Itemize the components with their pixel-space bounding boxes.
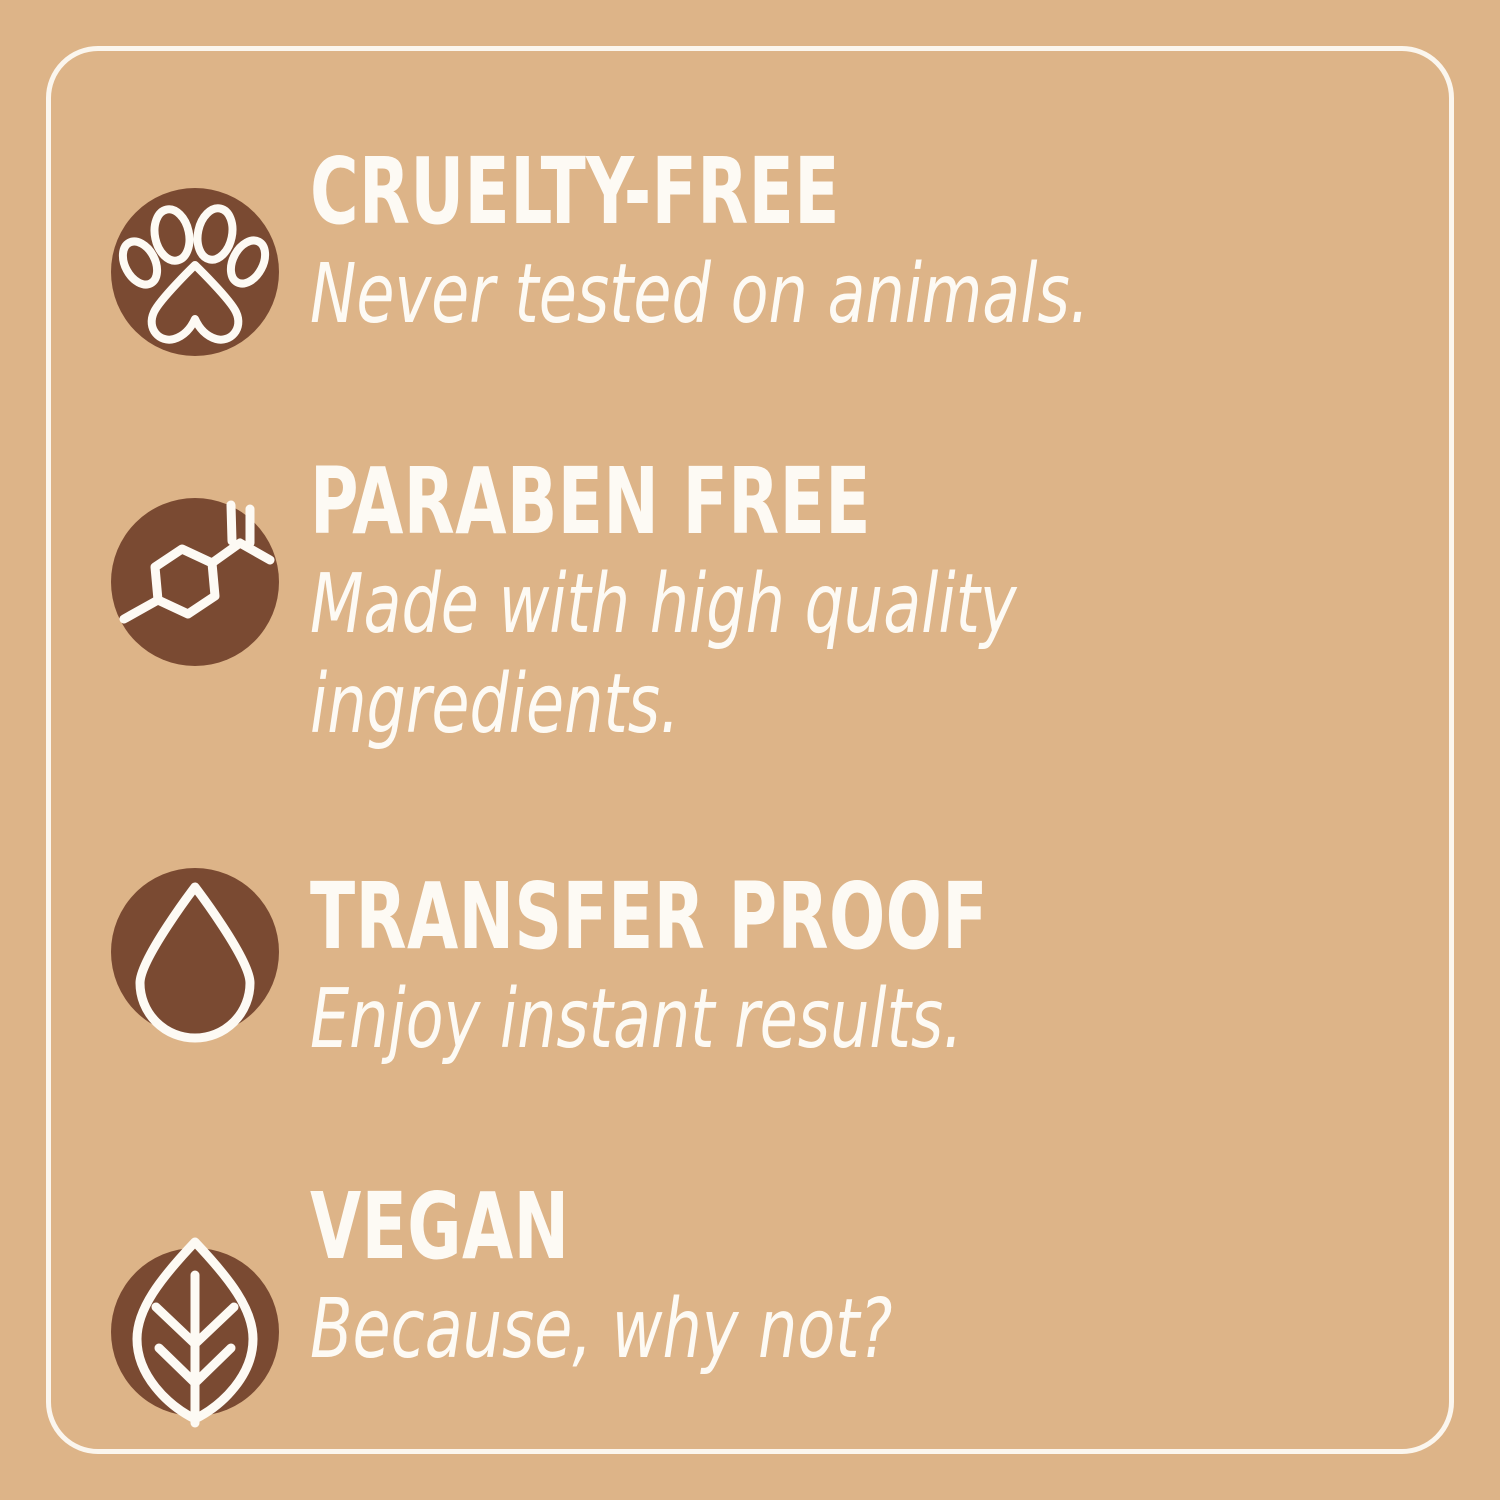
feature-description: Made with high quality ingredients.	[310, 555, 1394, 755]
feature-title: VEGAN	[310, 1185, 1182, 1270]
feature-list: CRUELTY-FREE Never tested on animals.	[0, 0, 1500, 1500]
feature-description: Enjoy instant results.	[310, 970, 1394, 1070]
feature-title: PARABEN FREE	[310, 460, 1182, 545]
paw-print-icon	[110, 187, 280, 357]
feature-title: CRUELTY-FREE	[310, 150, 1182, 235]
feature-text-paraben-free: PARABEN FREE Made with high quality ingr…	[310, 460, 1400, 755]
feature-text-transfer-proof: TRANSFER PROOF Enjoy instant results.	[310, 875, 1400, 1070]
water-droplet-icon	[110, 867, 280, 1037]
feature-description: Never tested on animals.	[310, 245, 1394, 345]
molecule-icon	[110, 497, 280, 667]
benefits-panel: CRUELTY-FREE Never tested on animals.	[0, 0, 1500, 1500]
leaf-icon	[110, 1247, 280, 1417]
feature-title: TRANSFER PROOF	[310, 875, 1182, 960]
feature-description: Because, why not?	[310, 1280, 1394, 1380]
feature-text-vegan: VEGAN Because, why not?	[310, 1185, 1400, 1380]
feature-text-cruelty-free: CRUELTY-FREE Never tested on animals.	[310, 150, 1400, 345]
